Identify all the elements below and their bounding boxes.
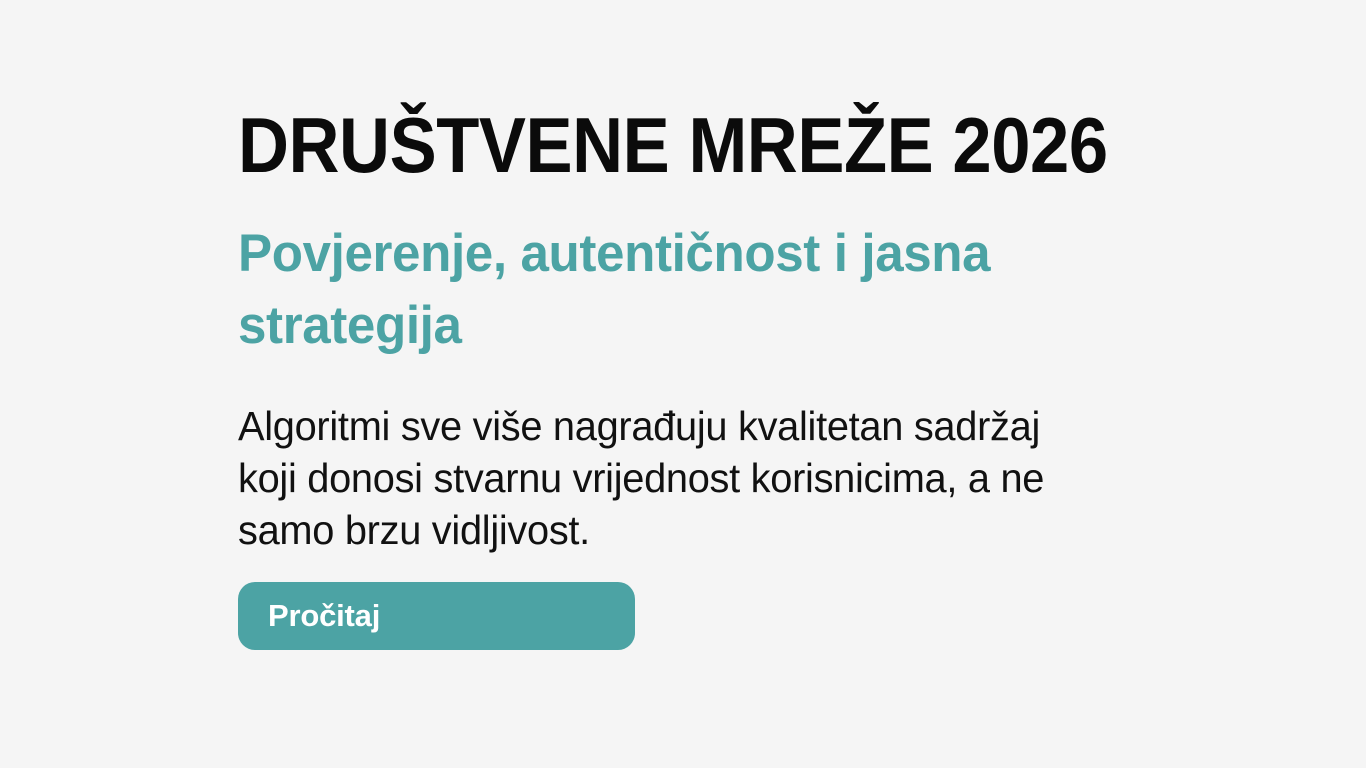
hero-card: DRUŠTVENE MREŽE 2026 Povjerenje, autenti… bbox=[0, 0, 1366, 768]
read-more-button[interactable]: Pročitaj bbox=[238, 582, 635, 650]
read-more-button-label: Pročitaj bbox=[238, 582, 380, 650]
page-title: DRUŠTVENE MREŽE 2026 bbox=[238, 104, 1053, 186]
hero-description: Algoritmi sve više nagrađuju kvalitetan … bbox=[238, 362, 1053, 556]
hero-content: DRUŠTVENE MREŽE 2026 Povjerenje, autenti… bbox=[238, 104, 1138, 650]
cta-container: Pročitaj bbox=[238, 556, 1138, 650]
hero-subtitle: Povjerenje, autentičnost i jasna strateg… bbox=[238, 186, 1000, 362]
